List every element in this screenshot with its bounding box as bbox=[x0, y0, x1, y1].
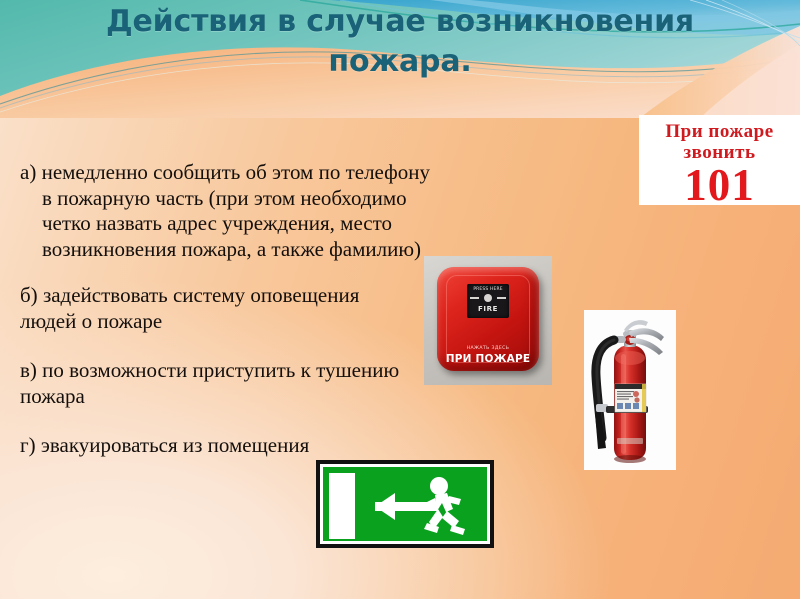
alarm-arrow-left-icon bbox=[470, 297, 479, 299]
call-sign-line1: При пожаре bbox=[639, 121, 800, 142]
slide: Действия в случае возникновения пожара. … bbox=[0, 0, 800, 599]
alarm-main-label: ПРИ ПОЖАРЕ bbox=[437, 353, 539, 365]
exit-sign-face bbox=[320, 464, 490, 544]
emergency-exit-sign bbox=[316, 460, 494, 548]
list-text-a: немедленно сообщить об этом по телефону … bbox=[42, 160, 430, 261]
list-text-g: эвакуироваться из помещения bbox=[41, 433, 309, 457]
alarm-press-plate: PRESS HERE FIRE bbox=[467, 284, 509, 318]
list-marker-v: в) bbox=[20, 358, 37, 382]
alarm-box: PRESS HERE FIRE НАЖАТЬ ЗДЕСЬ ПРИ ПОЖАРЕ bbox=[437, 267, 539, 371]
slide-title-line1: Действия в случае возникновения bbox=[106, 4, 694, 39]
list-marker-g: г) bbox=[20, 433, 36, 457]
fire-alarm-call-point-image: PRESS HERE FIRE НАЖАТЬ ЗДЕСЬ ПРИ ПОЖАРЕ bbox=[424, 256, 552, 385]
alarm-button-dot-icon bbox=[484, 294, 492, 302]
list-item-a: а) немедленно сообщить об этом по телефо… bbox=[20, 160, 440, 262]
list-item-g: г) эвакуироваться из помещения bbox=[20, 433, 320, 459]
list-item-v: в) по возможности приступить к тушению п… bbox=[20, 358, 420, 409]
list-text-b: задействовать систему оповещения людей о… bbox=[20, 283, 359, 333]
exit-door-icon bbox=[329, 473, 355, 539]
list-marker-a: а) bbox=[20, 160, 36, 184]
call-sign-number: 101 bbox=[639, 163, 800, 205]
list-marker-b: б) bbox=[20, 283, 38, 307]
running-person-icon bbox=[423, 477, 465, 535]
list-item-b: б) задействовать систему оповещения люде… bbox=[20, 283, 360, 334]
alarm-arrows-icon bbox=[467, 292, 509, 305]
body-text: а) немедленно сообщить об этом по телефо… bbox=[20, 160, 440, 459]
emergency-call-sign: При пожаре звонить 101 bbox=[639, 115, 800, 205]
slide-title: Действия в случае возникновения пожара. bbox=[0, 2, 800, 82]
list-text-v: по возможности приступить к тушению пожа… bbox=[20, 358, 399, 408]
alarm-fire-label: FIRE bbox=[467, 305, 509, 313]
fire-extinguisher-image bbox=[584, 310, 676, 470]
alarm-sub-label: НАЖАТЬ ЗДЕСЬ bbox=[437, 346, 539, 352]
slide-title-line2: пожара. bbox=[0, 42, 800, 82]
alarm-arrow-right-icon bbox=[497, 297, 506, 299]
